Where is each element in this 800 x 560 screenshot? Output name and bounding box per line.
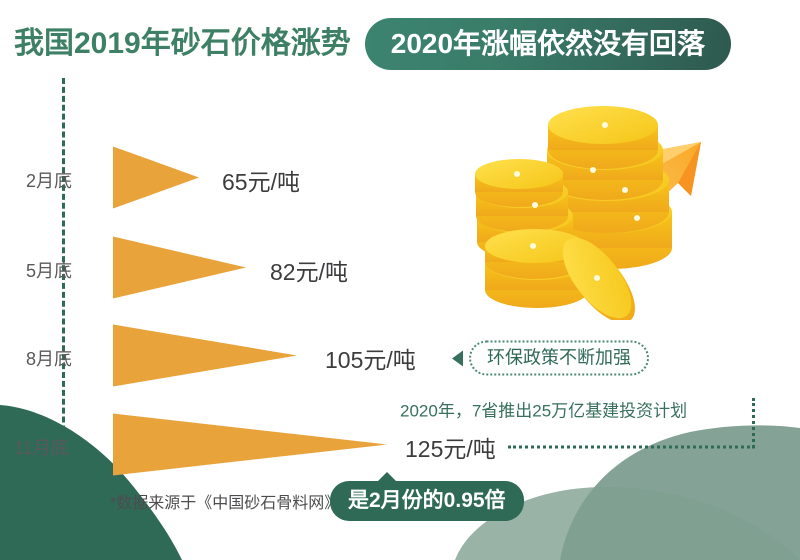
row-price-0: 65元/吨: [222, 163, 300, 197]
row-label-3: 11月底: [14, 434, 69, 460]
note-2020-investment: 2020年，7省推出25万亿基建投资计划: [400, 397, 687, 422]
dotted-connector: [508, 446, 755, 449]
row-label-2: 8月底: [26, 345, 72, 371]
row-label-1: 5月底: [26, 257, 72, 283]
policy-callout: 环保政策不断加强: [452, 341, 649, 376]
policy-callout-text: 环保政策不断加强: [469, 341, 649, 376]
bar-triangle-3: [113, 414, 387, 481]
timeline-rows: 2月底 65元/吨 5月底 82元/吨 8月底: [0, 0, 800, 560]
bracket-vertical: [752, 398, 755, 448]
bar-triangle-2: [113, 325, 297, 392]
bar-triangle-0: [113, 147, 199, 214]
multiplier-tag: 是2月份的0.95倍: [330, 481, 524, 521]
bar-triangle-1: [113, 237, 246, 304]
row-price-3: 125元/吨: [405, 430, 496, 464]
callout-pointer-icon: [452, 350, 463, 366]
source-footnote: *数据来源于《中国砂石骨料网》: [110, 489, 340, 513]
dotted-bracket: [752, 398, 762, 448]
multiplier-tag-text: 是2月份的0.95倍: [330, 481, 524, 521]
row-price-1: 82元/吨: [270, 253, 348, 287]
row-price-2: 105元/吨: [325, 341, 416, 375]
infographic-canvas: 我国2019年砂石价格涨势 2020年涨幅依然没有回落: [0, 0, 800, 560]
row-label-0: 2月底: [26, 167, 72, 193]
tag-pointer-icon: [376, 472, 398, 483]
